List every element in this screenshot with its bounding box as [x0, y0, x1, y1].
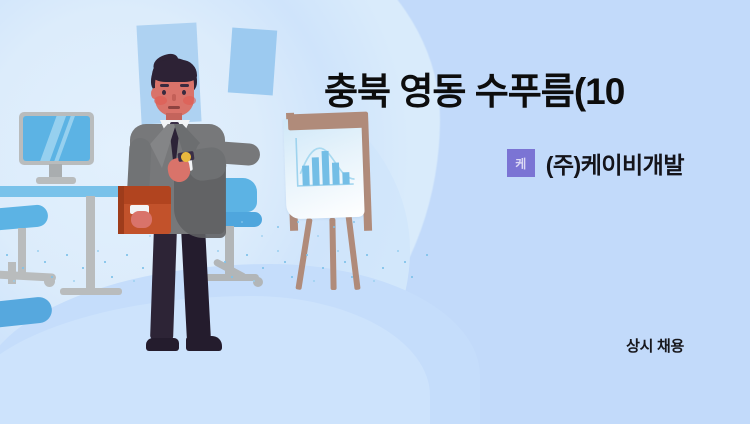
businessman-nose-icon [172, 94, 176, 101]
flip-chart-bar-chart-icon [292, 134, 358, 194]
businessman-mouth-icon [168, 106, 180, 109]
monitor-screen-icon [23, 116, 90, 161]
job-posting-title: 충북 영동 수푸름(10 [324, 72, 744, 113]
businessman-eye-left-icon [162, 90, 166, 95]
businessman-blush-right-icon [183, 96, 196, 105]
monitor-neck-icon [49, 164, 62, 178]
easel-leg-center-icon [329, 218, 336, 290]
company-name[interactable]: (주)케이비개발 [546, 146, 684, 180]
office-chair-left-caster-icon [44, 276, 55, 287]
desk-leg-icon [86, 196, 95, 294]
businessman-eyebrow-left-icon [160, 84, 169, 87]
businessman-hand-left-icon [131, 211, 152, 228]
businessman-trouser-left-icon [150, 228, 177, 341]
office-chair-left-post-icon [18, 228, 26, 276]
businessman-blush-left-icon [154, 96, 167, 105]
monitor-base-icon [36, 177, 76, 184]
businessman-shoe-left-icon [146, 338, 179, 351]
company-row[interactable]: 케 (주)케이비개발 [507, 146, 684, 180]
businessman-eye-right-icon [182, 90, 186, 95]
desk-foot-icon [60, 288, 122, 295]
briefcase-flap-icon [118, 186, 171, 204]
job-posting-card: 충북 영동 수푸름(10 케 (주)케이비개발 상시 채용 [0, 0, 750, 424]
recruitment-status-badge: 상시 채용 [626, 335, 684, 356]
easel-top-bar-icon [288, 112, 369, 131]
businessman-eyebrow-right-icon [180, 84, 189, 87]
businessman-shoe-right-icon [186, 336, 222, 351]
company-logo-badge: 케 [507, 149, 535, 177]
office-chair-right-base-icon [201, 274, 259, 281]
office-chair-right-caster-right-icon [253, 277, 263, 287]
briefcase-edge-icon [118, 186, 124, 234]
businessman-hair-front-icon [152, 60, 197, 82]
wall-poster-small-icon [228, 28, 277, 96]
